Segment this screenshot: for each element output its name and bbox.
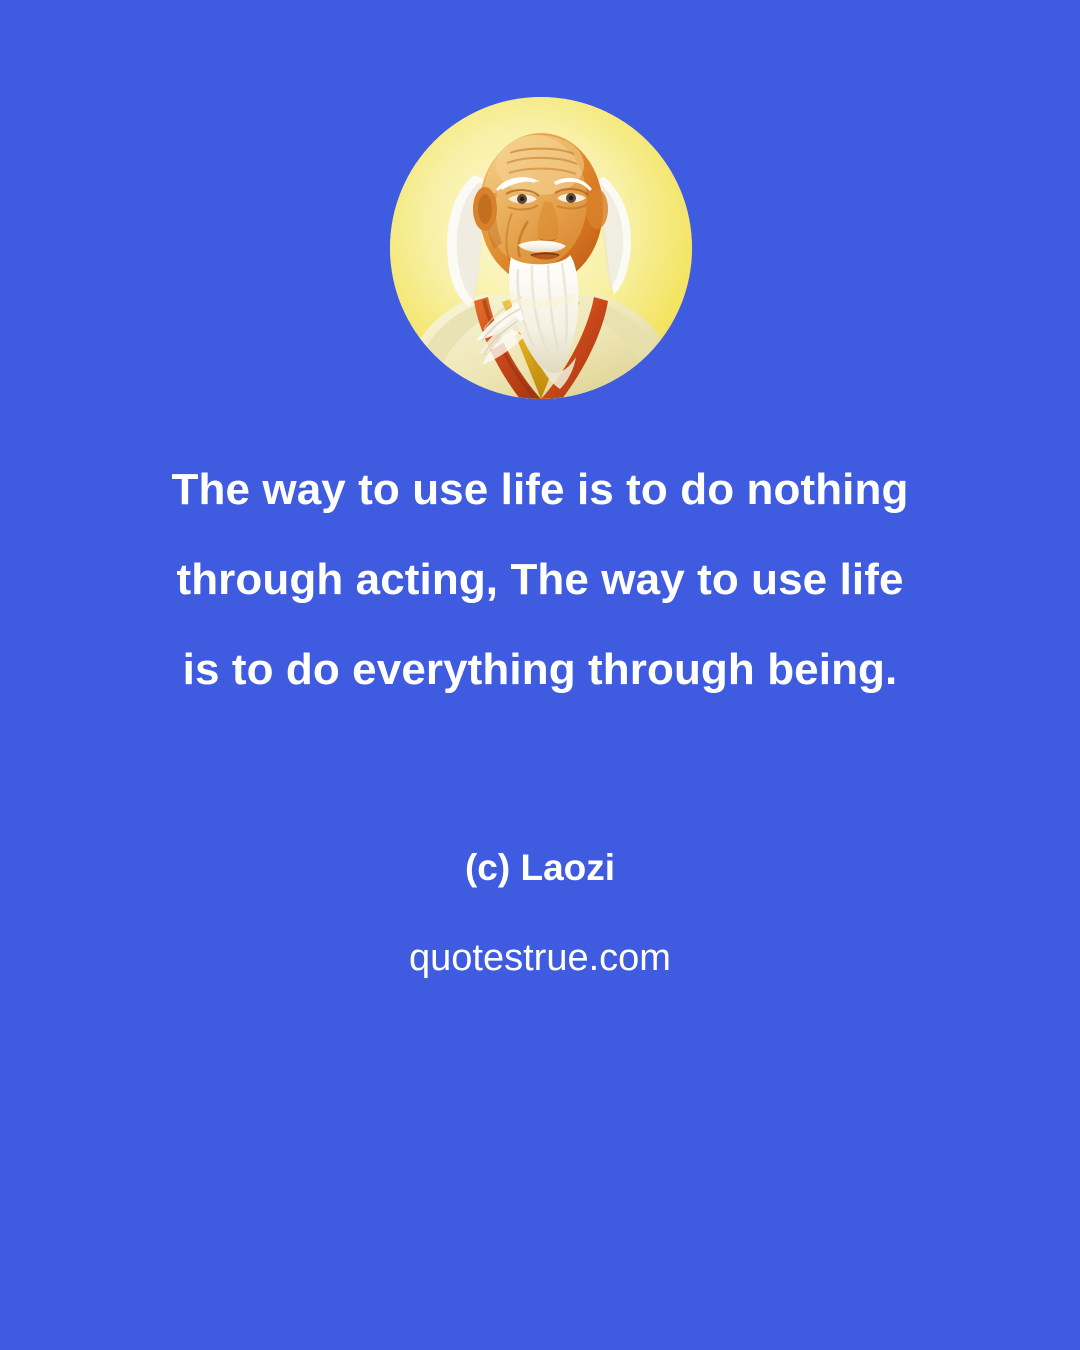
quote-line-3: is to do everything through being. bbox=[90, 625, 990, 715]
quote-line-2: through acting, The way to use life bbox=[90, 535, 990, 625]
quote-card: The way to use life is to do nothing thr… bbox=[0, 0, 1080, 1350]
quote-attribution: (c) Laozi bbox=[90, 843, 990, 893]
quote-line-1: The way to use life is to do nothing bbox=[90, 445, 990, 535]
laozi-portrait-avatar bbox=[390, 97, 692, 399]
website-credit: quotestrue.com bbox=[90, 933, 990, 983]
quote-text: The way to use life is to do nothing thr… bbox=[90, 445, 990, 715]
laozi-portrait-icon bbox=[390, 97, 692, 399]
